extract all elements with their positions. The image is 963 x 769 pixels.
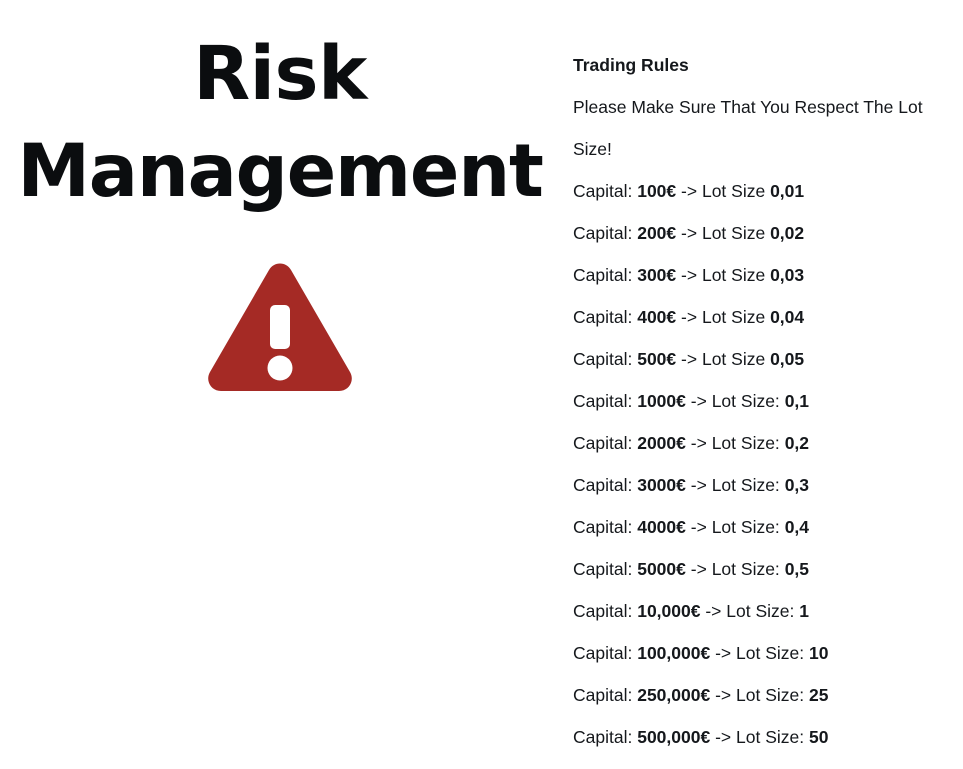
rule-lot-value: 50: [809, 727, 828, 747]
page-title-line-2: Management: [0, 123, 560, 220]
rule-lot-label: Lot Size:: [726, 601, 794, 621]
rule-separator: ->: [681, 349, 697, 369]
warning-triangle-icon: [206, 262, 354, 398]
rule-lot-label: Lot Size:: [712, 433, 780, 453]
list-item: Capital: 100,000€ -> Lot Size: 10: [573, 632, 963, 674]
rule-separator: ->: [715, 643, 731, 663]
rule-capital-value: 2000€: [637, 433, 686, 453]
rule-lot-label: Lot Size:: [712, 391, 780, 411]
rule-lot-label: Lot Size: [702, 223, 765, 243]
rule-capital-value: 200€: [637, 223, 676, 243]
list-item: Capital: 250,000€ -> Lot Size: 25: [573, 674, 963, 716]
rule-capital-value: 500,000€: [637, 727, 710, 747]
trading-rules-heading: Trading Rules: [573, 44, 963, 86]
rule-lot-label: Lot Size:: [736, 685, 804, 705]
rule-separator: ->: [681, 181, 697, 201]
rule-capital-value: 100,000€: [637, 643, 710, 663]
rule-lot-value: 0,01: [770, 181, 804, 201]
page-title-line-1: Risk: [0, 26, 560, 123]
rule-separator: ->: [681, 223, 697, 243]
list-item: Capital: 3000€ -> Lot Size: 0,3: [573, 464, 963, 506]
trading-rules-intro: Please Make Sure That You Respect The Lo…: [573, 86, 963, 170]
rule-separator: ->: [691, 391, 707, 411]
list-item: Capital: 200€ -> Lot Size 0,02: [573, 212, 963, 254]
lot-size-rules-list: Capital: 100€ -> Lot Size 0,01 Capital: …: [573, 170, 963, 758]
list-item: Capital: 400€ -> Lot Size 0,04: [573, 296, 963, 338]
rule-capital-label: Capital:: [573, 601, 632, 621]
list-item: Capital: 5000€ -> Lot Size: 0,5: [573, 548, 963, 590]
rule-lot-label: Lot Size:: [712, 559, 780, 579]
rule-lot-value: 0,4: [785, 517, 809, 537]
rule-capital-label: Capital:: [573, 307, 632, 327]
rule-separator: ->: [681, 265, 697, 285]
rule-lot-value: 0,3: [785, 475, 809, 495]
headline-column: Risk Management: [0, 0, 560, 769]
rule-capital-label: Capital:: [573, 559, 632, 579]
rule-lot-value: 10: [809, 643, 828, 663]
rule-capital-label: Capital:: [573, 643, 632, 663]
rule-lot-label: Lot Size: [702, 181, 765, 201]
rule-lot-value: 0,03: [770, 265, 804, 285]
rule-capital-value: 100€: [637, 181, 676, 201]
rule-separator: ->: [715, 685, 731, 705]
rule-lot-value: 25: [809, 685, 828, 705]
rule-capital-value: 4000€: [637, 517, 686, 537]
rule-capital-value: 500€: [637, 349, 676, 369]
list-item: Capital: 4000€ -> Lot Size: 0,4: [573, 506, 963, 548]
rule-capital-label: Capital:: [573, 349, 632, 369]
rule-lot-label: Lot Size: [702, 307, 765, 327]
rule-capital-value: 10,000€: [637, 601, 700, 621]
list-item: Capital: 500€ -> Lot Size 0,05: [573, 338, 963, 380]
rule-lot-value: 0,5: [785, 559, 809, 579]
rule-lot-label: Lot Size: [702, 349, 765, 369]
rule-capital-value: 5000€: [637, 559, 686, 579]
rule-lot-value: 0,05: [770, 349, 804, 369]
rule-lot-label: Lot Size:: [736, 727, 804, 747]
rule-capital-label: Capital:: [573, 517, 632, 537]
trading-rules-column: Trading Rules Please Make Sure That You …: [560, 0, 963, 758]
list-item: Capital: 300€ -> Lot Size 0,03: [573, 254, 963, 296]
list-item: Capital: 2000€ -> Lot Size: 0,2: [573, 422, 963, 464]
rule-lot-value: 0,02: [770, 223, 804, 243]
rule-capital-value: 300€: [637, 265, 676, 285]
rule-lot-value: 0,1: [785, 391, 809, 411]
rule-lot-value: 0,2: [785, 433, 809, 453]
rule-lot-label: Lot Size:: [712, 475, 780, 495]
list-item: Capital: 100€ -> Lot Size 0,01: [573, 170, 963, 212]
list-item: Capital: 500,000€ -> Lot Size: 50: [573, 716, 963, 758]
rule-separator: ->: [691, 517, 707, 537]
rule-capital-label: Capital:: [573, 223, 632, 243]
rule-lot-value: 0,04: [770, 307, 804, 327]
rule-lot-label: Lot Size:: [736, 643, 804, 663]
rule-capital-label: Capital:: [573, 181, 632, 201]
rule-capital-value: 250,000€: [637, 685, 710, 705]
rule-separator: ->: [681, 307, 697, 327]
list-item: Capital: 10,000€ -> Lot Size: 1: [573, 590, 963, 632]
rule-capital-value: 400€: [637, 307, 676, 327]
rule-lot-value: 1: [799, 601, 809, 621]
rule-separator: ->: [705, 601, 721, 621]
rule-capital-value: 3000€: [637, 475, 686, 495]
rule-capital-label: Capital:: [573, 433, 632, 453]
rule-capital-value: 1000€: [637, 391, 686, 411]
rule-separator: ->: [691, 559, 707, 579]
page-title: Risk Management: [0, 26, 560, 220]
rule-capital-label: Capital:: [573, 727, 632, 747]
rule-separator: ->: [691, 475, 707, 495]
rule-lot-label: Lot Size: [702, 265, 765, 285]
rule-capital-label: Capital:: [573, 475, 632, 495]
rule-separator: ->: [715, 727, 731, 747]
rule-capital-label: Capital:: [573, 391, 632, 411]
risk-management-page: Risk Management Trading Rules Please Mak…: [0, 0, 963, 769]
rule-capital-label: Capital:: [573, 265, 632, 285]
rule-capital-label: Capital:: [573, 685, 632, 705]
rule-lot-label: Lot Size:: [712, 517, 780, 537]
warning-icon-container: [0, 262, 560, 398]
rule-separator: ->: [691, 433, 707, 453]
list-item: Capital: 1000€ -> Lot Size: 0,1: [573, 380, 963, 422]
